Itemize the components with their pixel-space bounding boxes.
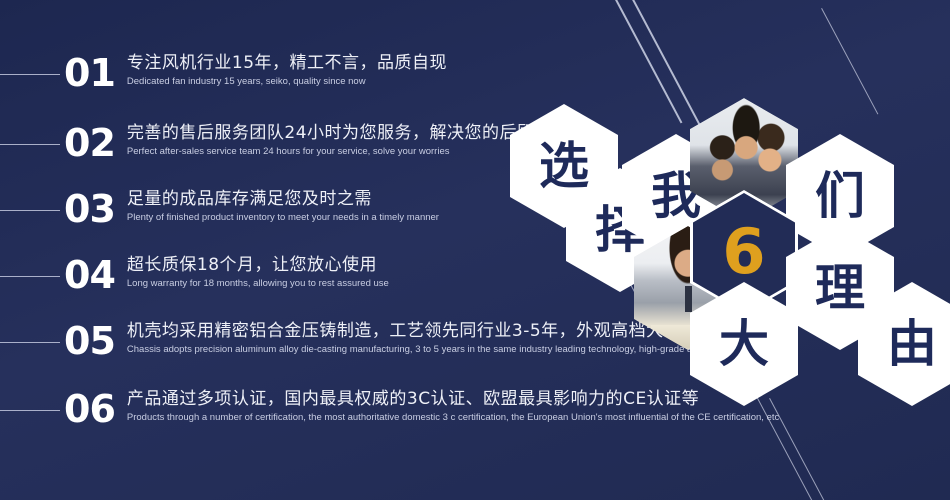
hexagon-cluster: 选 择 我 们 6 xyxy=(0,0,950,500)
necktie-shape xyxy=(685,286,692,312)
hex-men-label: 们 xyxy=(815,171,865,221)
hex-li-label: 理 xyxy=(815,263,865,313)
promo-banner: 01 专注风机行业15年，精工不言，品质自现 Dedicated fan ind… xyxy=(0,0,950,500)
hex-six-label: 6 xyxy=(722,221,765,283)
hex-xuan-label: 选 xyxy=(539,141,589,191)
hex-you-label: 由 xyxy=(887,319,937,369)
hex-da-label: 大 xyxy=(719,319,769,369)
